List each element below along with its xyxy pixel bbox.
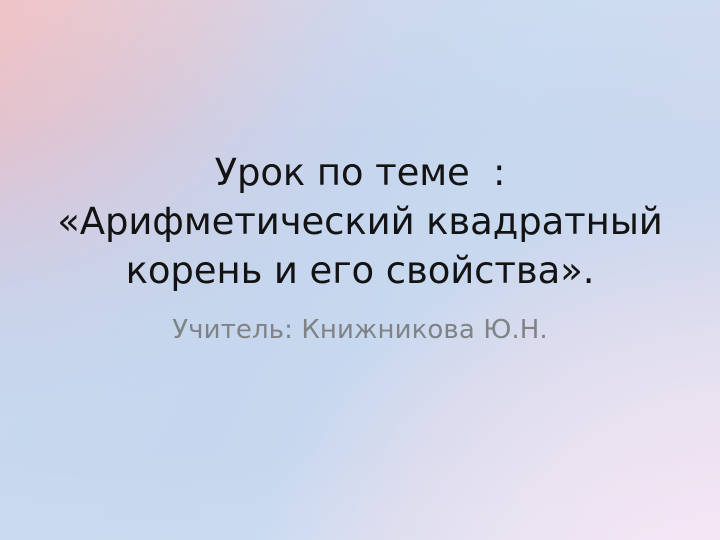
presentation-slide: Урок по теме : «Арифметический квадратны… [0,0,720,540]
slide-title: Урок по теме : «Арифметический квадратны… [46,148,674,295]
slide-subtitle-author: Учитель: Книжникова Ю.Н. [46,313,674,347]
slide-content: Урок по теме : «Арифметический квадратны… [0,0,720,540]
